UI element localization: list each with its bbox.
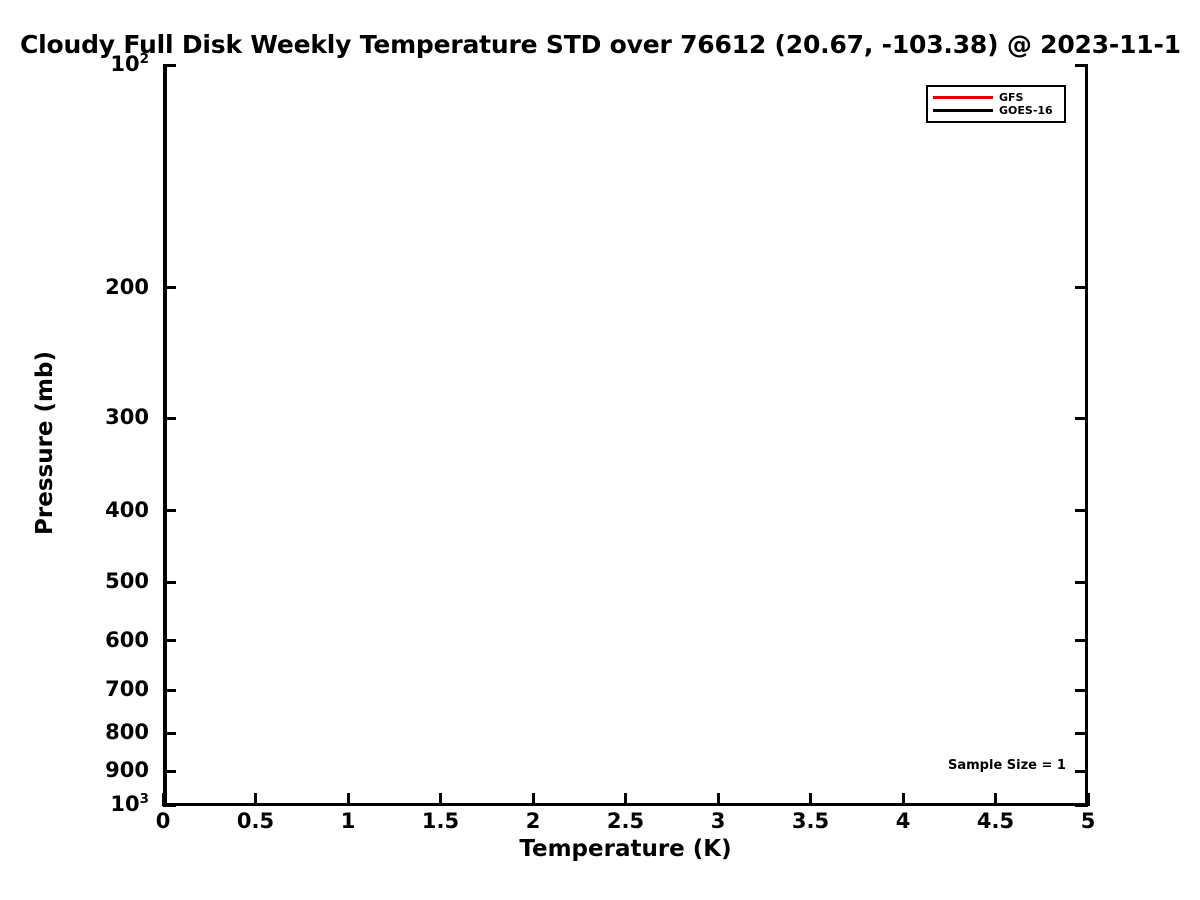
x-axis-tick — [254, 793, 257, 806]
plot-area — [163, 65, 1088, 805]
x-axis-tick — [532, 793, 535, 806]
x-axis-tick — [809, 793, 812, 806]
axis-spine-left — [163, 65, 167, 805]
y-axis-tick-right — [1075, 770, 1088, 773]
chart-title: Cloudy Full Disk Weekly Temperature STD … — [20, 30, 1200, 60]
y-axis-tick-label: 102 — [110, 54, 149, 75]
y-axis-tick-right — [1075, 689, 1088, 692]
y-axis-tick — [163, 581, 176, 584]
legend-swatch-gfs — [933, 96, 993, 99]
legend-label-goes16: GOES-16 — [999, 105, 1053, 116]
x-axis-tick — [624, 793, 627, 806]
y-axis-tick-label: 400 — [105, 500, 149, 521]
y-axis-tick-right — [1075, 417, 1088, 420]
x-axis-tick — [1087, 793, 1090, 806]
y-axis-tick — [163, 286, 176, 289]
x-axis-label: Temperature (K) — [0, 836, 1200, 862]
y-axis-tick — [163, 64, 176, 67]
y-axis-label: Pressure (mb) — [32, 143, 58, 743]
y-axis-tick-label: 700 — [105, 679, 149, 700]
x-axis-tick — [439, 793, 442, 806]
legend-label-gfs: GFS — [999, 92, 1023, 103]
chart-legend: GFS GOES-16 — [926, 85, 1066, 123]
y-axis-tick-right — [1075, 581, 1088, 584]
y-axis-tick-label: 900 — [105, 760, 149, 781]
y-axis-tick-label: 300 — [105, 407, 149, 428]
y-axis-tick-label: 800 — [105, 722, 149, 743]
y-axis-tick-label: 600 — [105, 630, 149, 651]
x-axis-tick — [162, 793, 165, 806]
y-axis-tick — [163, 732, 176, 735]
y-axis-tick-right — [1075, 64, 1088, 67]
axis-spine-right — [1085, 65, 1088, 805]
x-axis-tick — [347, 793, 350, 806]
y-axis-tick-right — [1075, 509, 1088, 512]
y-axis-tick — [163, 689, 176, 692]
legend-entry-goes16: GOES-16 — [933, 104, 1059, 117]
x-axis-tick — [902, 793, 905, 806]
y-axis-tick-right — [1075, 639, 1088, 642]
y-axis-tick — [163, 509, 176, 512]
y-axis-tick — [163, 417, 176, 420]
y-axis-tick-right — [1075, 286, 1088, 289]
sample-size-annotation: Sample Size = 1 — [948, 758, 1066, 773]
y-axis-tick-label: 200 — [105, 277, 149, 298]
y-axis-tick — [163, 639, 176, 642]
x-axis-tick-label: 5 — [1028, 810, 1148, 832]
y-axis-tick-label: 500 — [105, 571, 149, 592]
x-axis-tick — [717, 793, 720, 806]
y-axis-tick-right — [1075, 732, 1088, 735]
figure-canvas: Cloudy Full Disk Weekly Temperature STD … — [0, 0, 1200, 900]
y-axis-tick — [163, 804, 176, 807]
legend-entry-gfs: GFS — [933, 91, 1059, 104]
legend-swatch-goes16 — [933, 109, 993, 112]
x-axis-tick — [994, 793, 997, 806]
y-axis-tick — [163, 770, 176, 773]
